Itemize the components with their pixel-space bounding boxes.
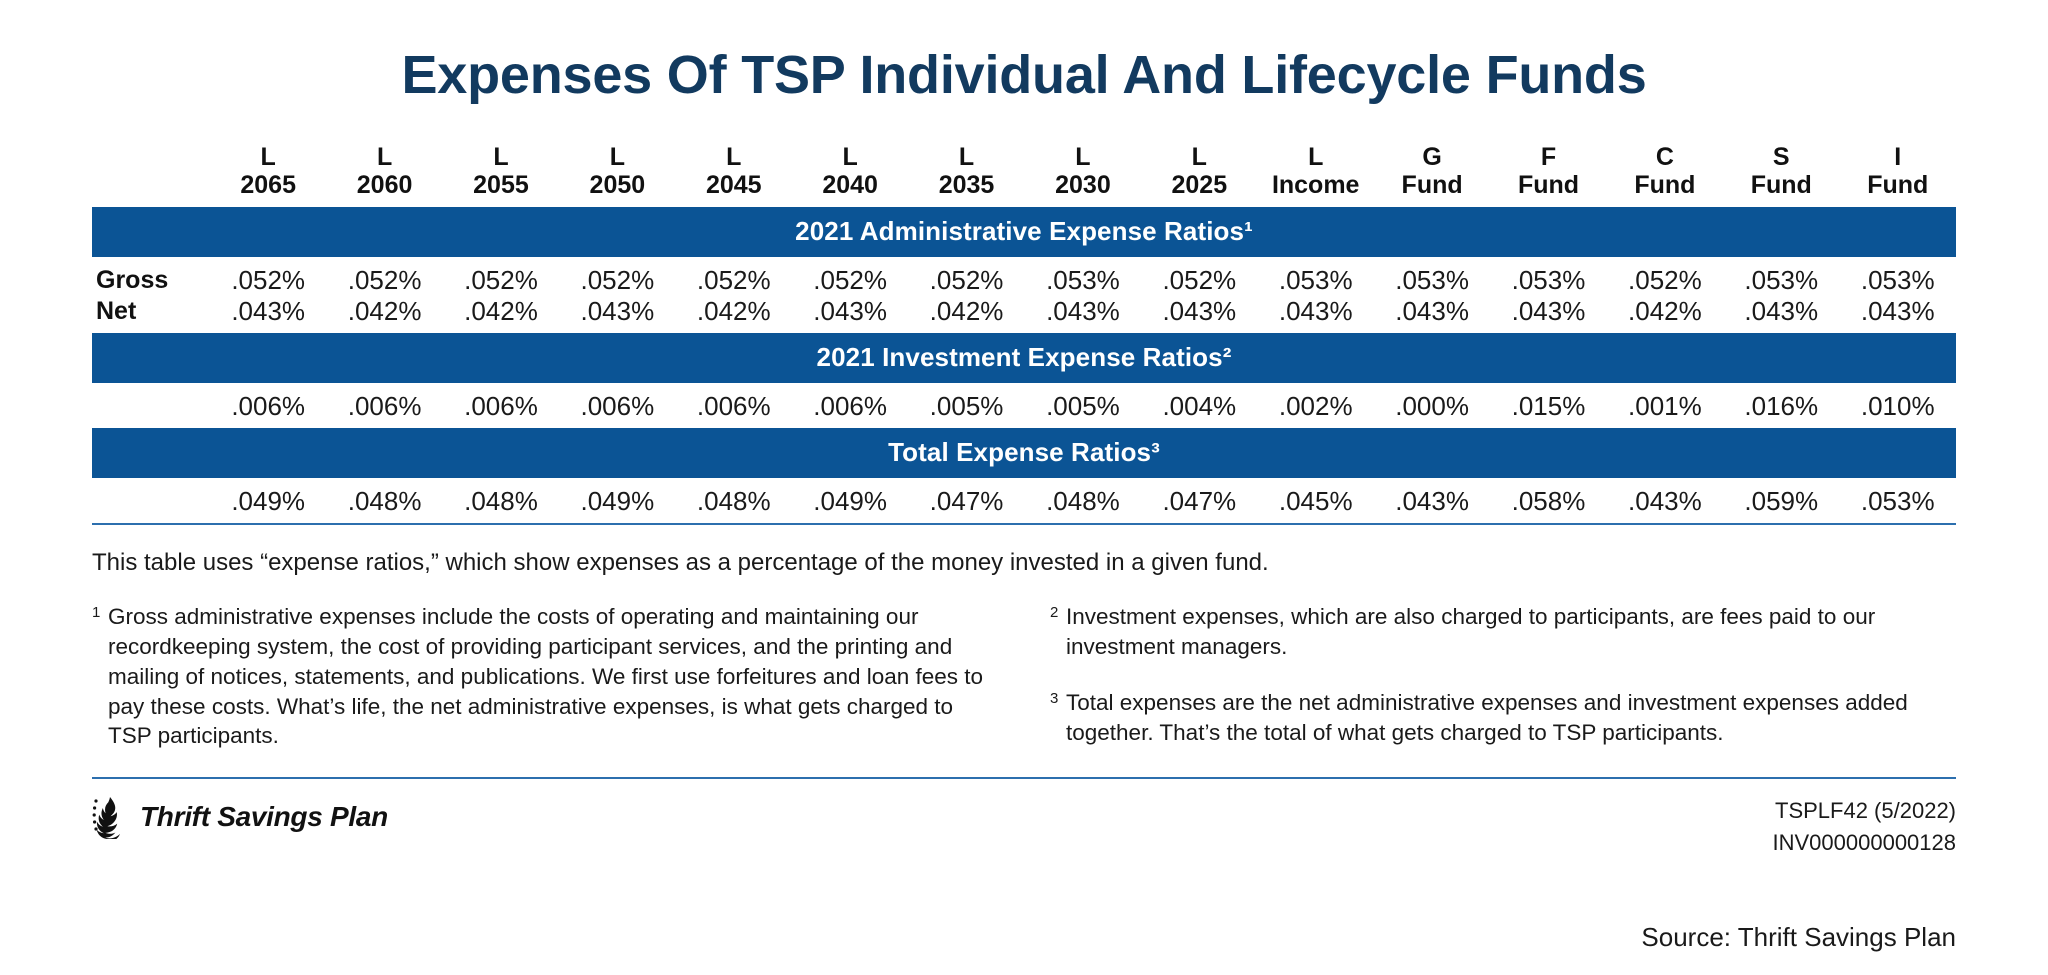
column-header: L2065 (210, 143, 326, 207)
table-cell: .043% (1374, 478, 1490, 523)
column-header-line2: Fund (1374, 171, 1490, 199)
table-cell: .042% (1607, 296, 1723, 333)
table-cell: .052% (559, 257, 675, 296)
column-header-line2: 2060 (326, 171, 442, 199)
column-header-line2: 2040 (792, 171, 908, 199)
table-cell: .015% (1490, 383, 1606, 428)
table-cell: .004% (1141, 383, 1257, 428)
table-cell: .052% (326, 257, 442, 296)
table-cell: .048% (443, 478, 559, 523)
table-cell: .052% (1607, 257, 1723, 296)
column-header: CFund (1607, 143, 1723, 207)
column-header-line1: L (1258, 143, 1374, 171)
table-cell: .043% (1374, 296, 1490, 333)
table-cell: .043% (1490, 296, 1606, 333)
column-header-row: L2065L2060L2055L2050L2045L2040L2035L2030… (92, 143, 1956, 207)
table-cell: .048% (676, 478, 792, 523)
table-cell: .053% (1723, 257, 1839, 296)
footnote: 3Total expenses are the net administrati… (1050, 688, 1956, 748)
table-cell: .016% (1723, 383, 1839, 428)
table-cell: .006% (559, 383, 675, 428)
footnote: 2Investment expenses, which are also cha… (1050, 602, 1956, 662)
table-cell: .045% (1258, 478, 1374, 523)
table-cell: .049% (792, 478, 908, 523)
expense-table-container: L2065L2060L2055L2050L2045L2040L2035L2030… (92, 105, 1956, 523)
table-cell: .052% (210, 257, 326, 296)
section-banner-label: 2021 Investment Expense Ratios² (92, 333, 1956, 383)
table-cell: .049% (559, 478, 675, 523)
table-cell: .002% (1258, 383, 1374, 428)
table-row: .006%.006%.006%.006%.006%.006%.005%.005%… (92, 383, 1956, 428)
column-header-line1: C (1607, 143, 1723, 171)
column-header-line2: 2065 (210, 171, 326, 199)
table-cell: .053% (1490, 257, 1606, 296)
column-header-line2: Fund (1839, 171, 1956, 199)
table-cell: .052% (443, 257, 559, 296)
row-label: Gross (92, 257, 210, 296)
section-banner-row: Total Expense Ratios³ (92, 428, 1956, 478)
table-cell: .052% (792, 257, 908, 296)
column-header-line1: S (1723, 143, 1839, 171)
table-cell: .042% (326, 296, 442, 333)
section-banner-row: 2021 Investment Expense Ratios² (92, 333, 1956, 383)
column-header: L2040 (792, 143, 908, 207)
table-cell: .043% (1141, 296, 1257, 333)
form-number: TSPLF42 (5/2022) (1773, 795, 1957, 827)
tsp-wordmark: Thrift Savings Plan (140, 801, 388, 833)
source-attribution: Source: Thrift Savings Plan (1641, 922, 1956, 953)
table-cell: .043% (559, 296, 675, 333)
inventory-number: INV000000000128 (1773, 827, 1957, 859)
table-cell: .042% (908, 296, 1024, 333)
table-cell: .042% (676, 296, 792, 333)
table-cell: .006% (792, 383, 908, 428)
column-header-line1: I (1839, 143, 1956, 171)
column-header-line1: L (443, 143, 559, 171)
table-row: Gross.052%.052%.052%.052%.052%.052%.052%… (92, 257, 1956, 296)
section-banner-label: 2021 Administrative Expense Ratios¹ (92, 207, 1956, 257)
table-cell: .006% (676, 383, 792, 428)
section-banner-row: 2021 Administrative Expense Ratios¹ (92, 207, 1956, 257)
table-cell: .052% (908, 257, 1024, 296)
table-cell: .053% (1839, 478, 1956, 523)
column-header: L2060 (326, 143, 442, 207)
column-header-line1: L (676, 143, 792, 171)
table-cell: .043% (1839, 296, 1956, 333)
column-header: SFund (1723, 143, 1839, 207)
footnote-marker: 1 (92, 602, 108, 752)
table-cell: .048% (326, 478, 442, 523)
table-cell: .053% (1025, 257, 1141, 296)
column-header-line1: L (559, 143, 675, 171)
table-cell: .001% (1607, 383, 1723, 428)
table-cell: .042% (443, 296, 559, 333)
column-header-line1: L (210, 143, 326, 171)
expense-ratios-table: L2065L2060L2055L2050L2045L2040L2035L2030… (92, 143, 1956, 523)
table-row: Net.043%.042%.042%.043%.042%.043%.042%.0… (92, 296, 1956, 333)
column-header-line1: L (908, 143, 1024, 171)
footnote-text: Total expenses are the net administrativ… (1066, 688, 1956, 748)
column-header: L2030 (1025, 143, 1141, 207)
row-label (92, 383, 210, 428)
column-header-line1: L (1141, 143, 1257, 171)
document-page: Expenses Of TSP Individual And Lifecycle… (0, 0, 2048, 975)
table-cell: .052% (676, 257, 792, 296)
column-header: L2050 (559, 143, 675, 207)
column-header-line2: 2025 (1141, 171, 1257, 199)
table-cell: .005% (1025, 383, 1141, 428)
column-header-line2: 2055 (443, 171, 559, 199)
table-cell: .005% (908, 383, 1024, 428)
row-label: Net (92, 296, 210, 333)
page-title: Expenses Of TSP Individual And Lifecycle… (0, 0, 2048, 105)
table-cell: .053% (1258, 257, 1374, 296)
table-cell: .006% (326, 383, 442, 428)
section-banner-label: Total Expense Ratios³ (92, 428, 1956, 478)
table-cell: .049% (210, 478, 326, 523)
footnote-marker: 3 (1050, 688, 1066, 748)
column-header: LIncome (1258, 143, 1374, 207)
table-cell: .059% (1723, 478, 1839, 523)
corner-cell (92, 143, 210, 207)
column-header-line1: L (792, 143, 908, 171)
footnotes: 1Gross administrative expenses include t… (92, 580, 1956, 752)
column-header: IFund (1839, 143, 1956, 207)
footnotes-right-column: 2Investment expenses, which are also cha… (1050, 602, 1956, 752)
footnote: 1Gross administrative expenses include t… (92, 602, 998, 752)
column-header: GFund (1374, 143, 1490, 207)
column-header: L2035 (908, 143, 1024, 207)
document-identifiers: TSPLF42 (5/2022) INV000000000128 (1773, 795, 1957, 859)
column-header-line2: 2035 (908, 171, 1024, 199)
table-cell: .043% (1258, 296, 1374, 333)
column-header: L2025 (1141, 143, 1257, 207)
tsp-logo: Thrift Savings Plan (92, 795, 388, 839)
table-cell: .047% (1141, 478, 1257, 523)
column-header: L2055 (443, 143, 559, 207)
table-cell: .043% (1025, 296, 1141, 333)
table-cell: .043% (1723, 296, 1839, 333)
column-header: L2045 (676, 143, 792, 207)
table-cell: .052% (1141, 257, 1257, 296)
table-cell: .000% (1374, 383, 1490, 428)
table-cell: .047% (908, 478, 1024, 523)
table-header: L2065L2060L2055L2050L2045L2040L2035L2030… (92, 143, 1956, 207)
table-cell: .053% (1839, 257, 1956, 296)
table-body: 2021 Administrative Expense Ratios¹Gross… (92, 207, 1956, 523)
column-header: FFund (1490, 143, 1606, 207)
table-cell: .043% (792, 296, 908, 333)
table-cell: .006% (210, 383, 326, 428)
footnote-text: Gross administrative expenses include th… (108, 602, 998, 752)
column-header-line1: F (1490, 143, 1606, 171)
table-note: This table uses “expense ratios,” which … (92, 525, 1956, 579)
table-cell: .010% (1839, 383, 1956, 428)
column-header-line2: Fund (1490, 171, 1606, 199)
column-header-line2: 2050 (559, 171, 675, 199)
table-cell: .058% (1490, 478, 1606, 523)
column-header-line1: L (326, 143, 442, 171)
column-header-line2: 2045 (676, 171, 792, 199)
column-header-line2: 2030 (1025, 171, 1141, 199)
column-header-line1: G (1374, 143, 1490, 171)
footnote-text: Investment expenses, which are also char… (1066, 602, 1956, 662)
column-header-line2: Fund (1723, 171, 1839, 199)
footnote-marker: 2 (1050, 602, 1066, 662)
column-header-line2: Income (1258, 171, 1374, 199)
table-cell: .006% (443, 383, 559, 428)
row-label (92, 478, 210, 523)
column-header-line2: Fund (1607, 171, 1723, 199)
table-cell: .043% (210, 296, 326, 333)
flame-icon (92, 795, 132, 839)
table-cell: .053% (1374, 257, 1490, 296)
table-row: .049%.048%.048%.049%.048%.049%.047%.048%… (92, 478, 1956, 523)
table-cell: .043% (1607, 478, 1723, 523)
table-cell: .048% (1025, 478, 1141, 523)
document-footer: Thrift Savings Plan TSPLF42 (5/2022) INV… (92, 779, 1956, 859)
column-header-line1: L (1025, 143, 1141, 171)
footnotes-left-column: 1Gross administrative expenses include t… (92, 602, 998, 752)
